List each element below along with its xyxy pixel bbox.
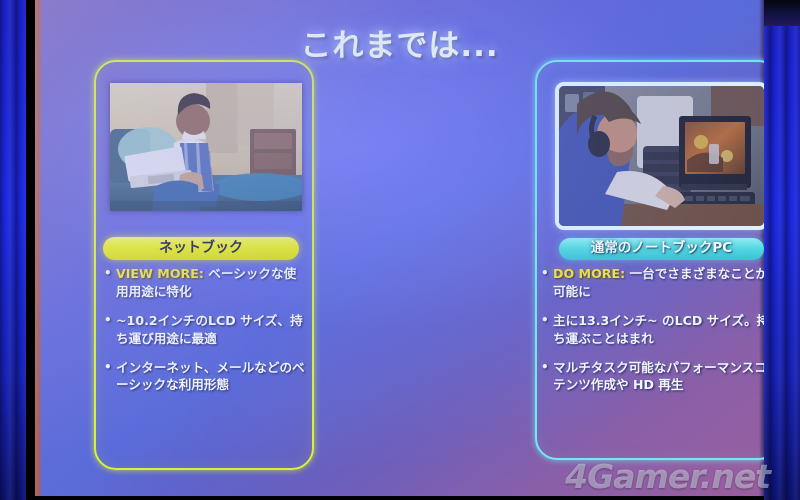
screen-edge-left <box>35 0 42 496</box>
bullet-list-notebook-pc: DO MORE: 一台でさまざまなことが可能に 主に13.3インチ~ のLCD … <box>540 265 764 405</box>
presentation-photo: これまでは... <box>0 0 800 500</box>
bullet-text: ~10.2インチのLCD サイズ、持ち運び用途に最適 <box>116 313 303 346</box>
slide-title: これまでは... <box>35 20 764 65</box>
bullet-item: インターネット、メールなどのベーシックな利用形態 <box>103 359 308 395</box>
bullet-item: DO MORE: 一台でさまざまなことが可能に <box>540 265 764 301</box>
stage-curtain-left <box>0 0 26 500</box>
photo-child-with-netbook <box>110 83 302 211</box>
bullet-text: 主に13.3インチ~ のLCD サイズ。持ち運ぶことはまれ <box>553 313 764 346</box>
bullet-item: マルチタスク可能なパフォーマンスコンテンツ作成や HD 再生 <box>540 359 764 395</box>
bullet-text: マルチタスク可能なパフォーマンスコンテンツ作成や HD 再生 <box>553 360 764 393</box>
bullet-item: ~10.2インチのLCD サイズ、持ち運び用途に最適 <box>103 312 308 348</box>
photo-man-gaming-at-desk <box>555 82 764 230</box>
badge-notebook-pc: 通常のノートブックPC <box>559 238 764 260</box>
bullet-highlight: VIEW MORE: <box>116 266 204 281</box>
wall-gap-left <box>26 0 35 500</box>
bullet-item: VIEW MORE: ベーシックな使用用途に特化 <box>103 265 308 301</box>
bullet-text: インターネット、メールなどのベーシックな利用形態 <box>116 360 305 393</box>
badge-netbook: ネットブック <box>103 237 299 260</box>
projection-screen: これまでは... <box>35 0 764 496</box>
bullet-list-netbook: VIEW MORE: ベーシックな使用用途に特化 ~10.2インチのLCD サイ… <box>103 265 308 405</box>
bullet-item: 主に13.3インチ~ のLCD サイズ。持ち運ぶことはまれ <box>540 312 764 348</box>
bullet-highlight: DO MORE: <box>553 266 625 281</box>
